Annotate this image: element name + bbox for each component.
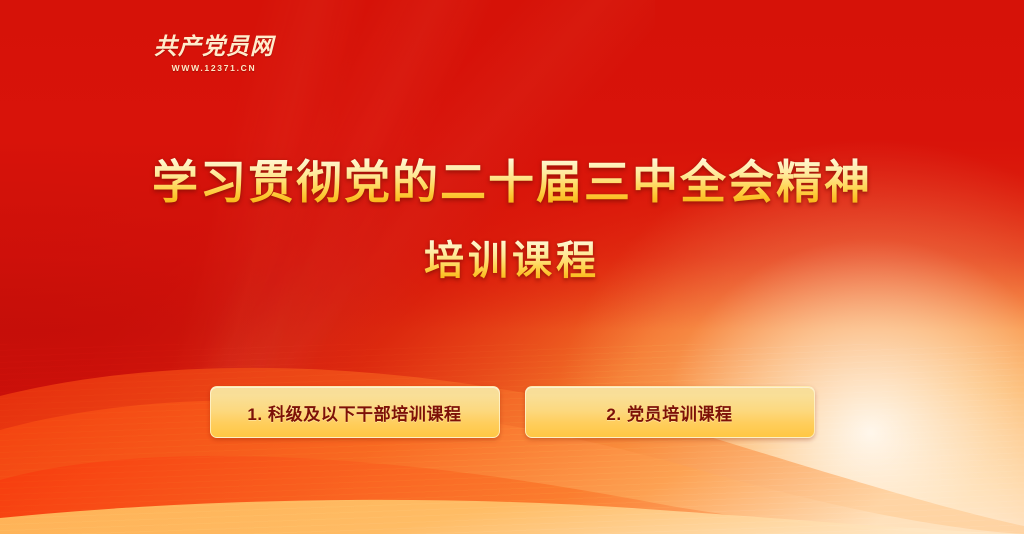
logo-wordmark: 共产党员网 (152, 34, 276, 60)
course-button-2-label: 2. 党员培训课程 (606, 400, 732, 425)
course-button-2[interactable]: 2. 党员培训课程 (525, 386, 815, 438)
page-title: 学习贯彻党的二十届三中全会精神 (0, 155, 1024, 209)
course-button-row: 1. 科级及以下干部培训课程 2. 党员培训课程 (0, 386, 1024, 438)
course-button-1[interactable]: 1. 科级及以下干部培训课程 (210, 386, 500, 438)
page-subtitle: 培训课程 (0, 237, 1024, 285)
logo-url: WWW.12371.CN (152, 63, 276, 73)
poster-page: 共产党员网 WWW.12371.CN 学习贯彻党的二十届三中全会精神 培训课程 … (0, 0, 1024, 534)
site-logo[interactable]: 共产党员网 WWW.12371.CN (152, 34, 276, 80)
course-button-1-label: 1. 科级及以下干部培训课程 (247, 400, 461, 425)
title-block: 学习贯彻党的二十届三中全会精神 培训课程 (0, 155, 1024, 285)
